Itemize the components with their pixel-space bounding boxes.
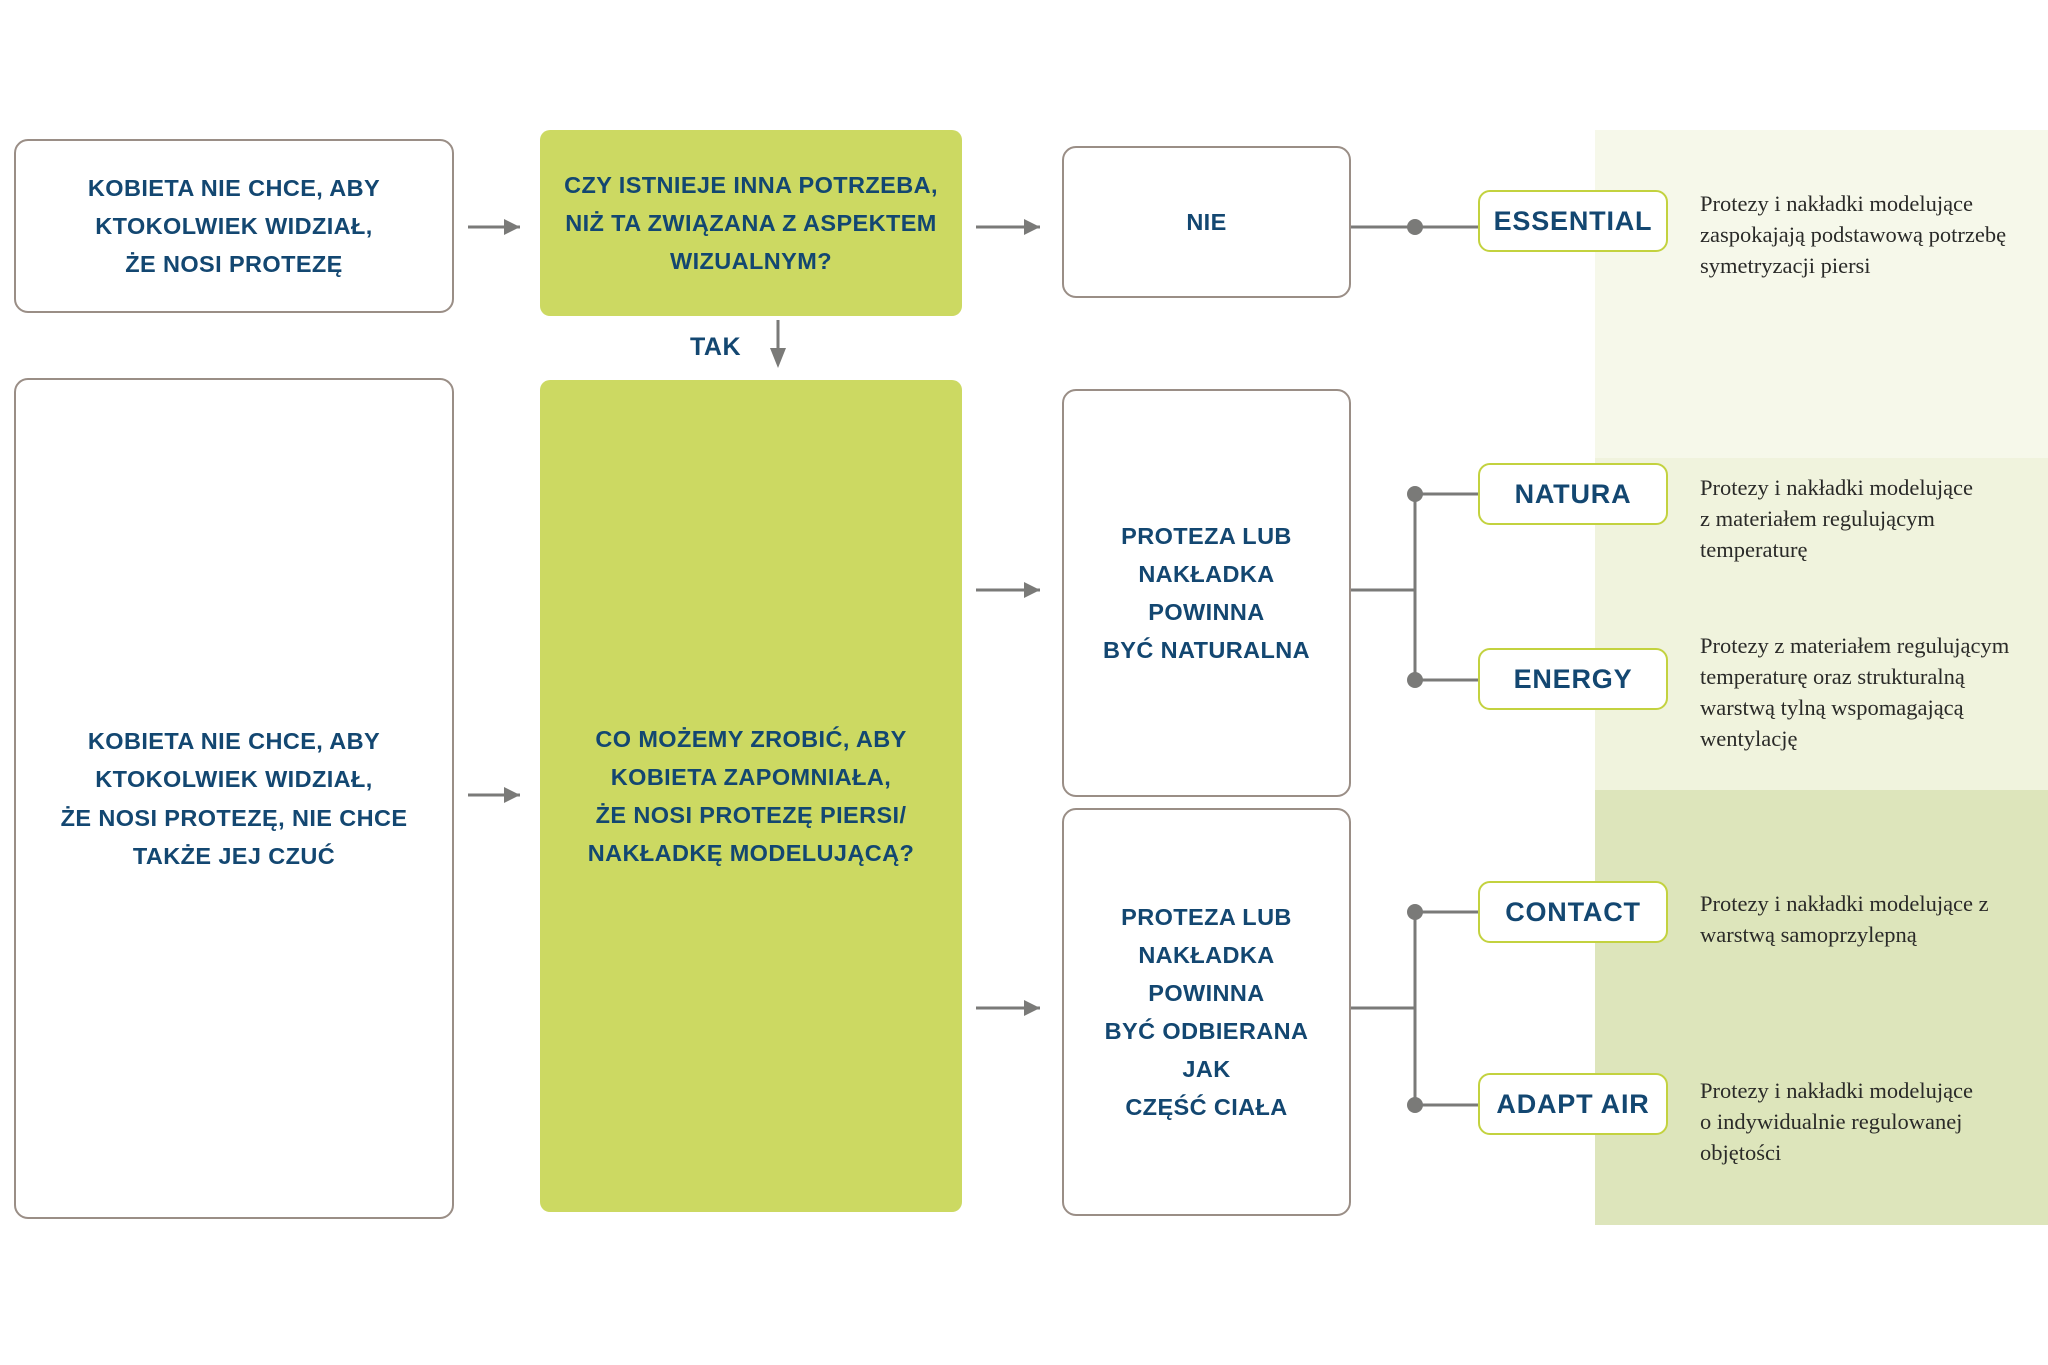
product-badge-energy[interactable]: ENERGY [1478, 648, 1668, 710]
outcome-box-part-of-body-text: PROTEZA LUB NAKŁADKA POWINNA BYĆ ODBIERA… [1064, 898, 1349, 1126]
outcome-box-natural-text: PROTEZA LUB NAKŁADKA POWINNA BYĆ NATURAL… [1064, 517, 1349, 669]
product-badge-contact-label: CONTACT [1505, 897, 1641, 928]
product-description-essential: Protezy i nakładki modelujące zaspokajaj… [1700, 188, 2040, 281]
product-description-adapt-air: Protezy i nakładki modelujące o indywidu… [1700, 1075, 2040, 1168]
decision-box-visual-aspect-text: CZY ISTNIEJE INNA POTRZEBA, NIŻ TA ZWIĄZ… [546, 166, 956, 280]
outcome-box-part-of-body[interactable]: PROTEZA LUB NAKŁADKA POWINNA BYĆ ODBIERA… [1062, 808, 1351, 1216]
outcome-box-nie[interactable]: NIE [1062, 146, 1351, 298]
product-badge-essential[interactable]: ESSENTIAL [1478, 190, 1668, 252]
decision-box-forget-prosthesis-text: CO MOŻEMY ZROBIĆ, ABY KOBIETA ZAPOMNIAŁA… [570, 720, 933, 872]
question-box-q2-text: KOBIETA NIE CHCE, ABY KTOKOLWIEK WIDZIAŁ… [43, 722, 426, 874]
product-badge-contact[interactable]: CONTACT [1478, 881, 1668, 943]
panel-essential-background [1595, 130, 2048, 458]
product-badge-energy-label: ENERGY [1514, 664, 1633, 695]
product-description-natura: Protezy i nakładki modelujące z materiał… [1700, 472, 2040, 565]
question-box-q2[interactable]: KOBIETA NIE CHCE, ABY KTOKOLWIEK WIDZIAŁ… [14, 378, 454, 1219]
outcome-box-natural[interactable]: PROTEZA LUB NAKŁADKA POWINNA BYĆ NATURAL… [1062, 389, 1351, 797]
product-badge-adapt-air-label: ADAPT AIR [1496, 1089, 1649, 1120]
product-badge-natura[interactable]: NATURA [1478, 463, 1668, 525]
product-badge-essential-label: ESSENTIAL [1494, 206, 1653, 237]
product-badge-natura-label: NATURA [1515, 479, 1632, 510]
question-box-q1[interactable]: KOBIETA NIE CHCE, ABY KTOKOLWIEK WIDZIAŁ… [14, 139, 454, 313]
product-description-energy: Protezy z materiałem regulującym tempera… [1700, 630, 2040, 754]
product-description-contact: Protezy i nakładki modelujące z warstwą … [1700, 888, 2040, 950]
decision-box-forget-prosthesis[interactable]: CO MOŻEMY ZROBIĆ, ABY KOBIETA ZAPOMNIAŁA… [540, 380, 962, 1212]
branch-label-tak: TAK [690, 333, 741, 362]
question-box-q1-text: KOBIETA NIE CHCE, ABY KTOKOLWIEK WIDZIAŁ… [70, 169, 398, 283]
decision-box-visual-aspect[interactable]: CZY ISTNIEJE INNA POTRZEBA, NIŻ TA ZWIĄZ… [540, 130, 962, 316]
flowchart-canvas: TAK KOBIETA NIE CHCE, ABY KTOKOLWIEK WID… [0, 0, 2048, 1365]
outcome-box-nie-text: NIE [1168, 203, 1244, 241]
product-badge-adapt-air[interactable]: ADAPT AIR [1478, 1073, 1668, 1135]
